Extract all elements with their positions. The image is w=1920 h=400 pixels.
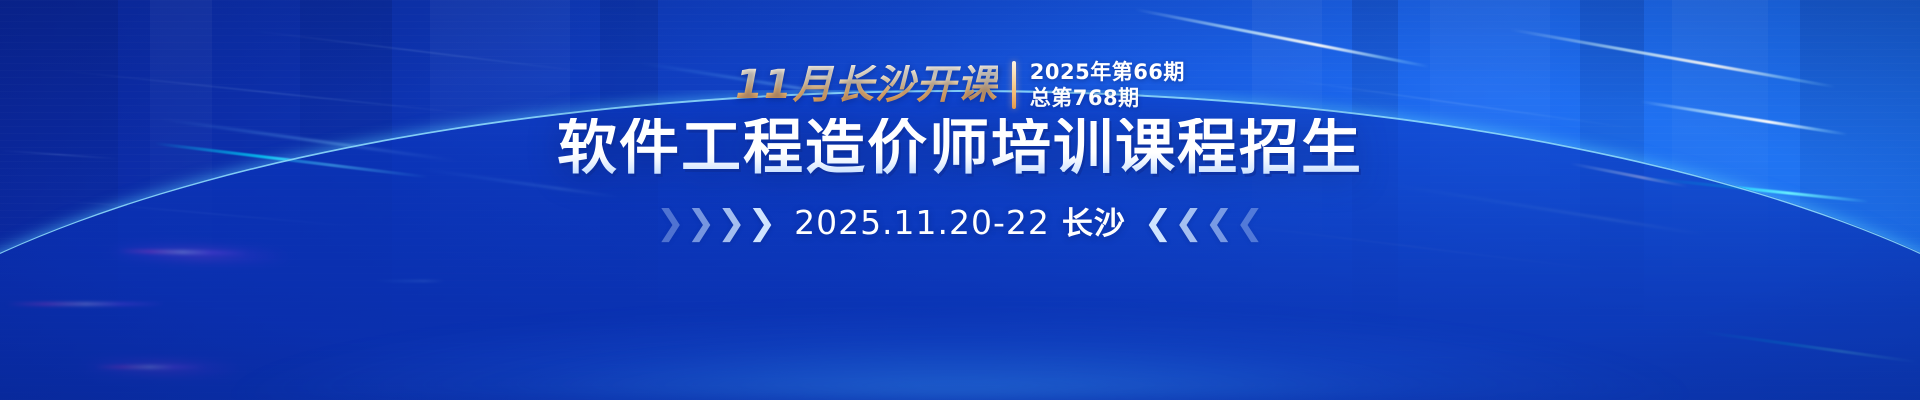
chevron-right-glyph: ❯ [656,206,685,240]
period-current: 2025年第66期 [1030,61,1185,83]
chevron-left-glyph: ❮ [1144,206,1173,240]
chevron-right-glyph: ❯ [687,206,716,240]
course-promo-banner: 11月长沙开课 2025年第66期 总第768期 软件工程造价师培训课程招生 ❯… [0,0,1920,400]
chevron-left-glyph: ❮ [1205,206,1234,240]
event-date-group: 2025.11.20-22长沙 [794,206,1126,240]
chevron-left-icon: ❮ ❮ ❮ ❮ [1144,206,1264,240]
vertical-bar-icon [1012,61,1016,109]
chevron-right-glyph: ❯ [717,206,746,240]
page-title: 软件工程造价师培训课程招生 [557,118,1363,178]
eyebrow-highlight: 11月长沙开课 [735,65,998,105]
period-total: 总第768期 [1030,87,1185,109]
chevron-right-icon: ❯ ❯ ❯ ❯ [656,206,776,240]
event-date: 2025.11.20-22 [794,203,1050,242]
event-city: 长沙 [1062,206,1126,242]
banner-content: 11月长沙开课 2025年第66期 总第768期 软件工程造价师培训课程招生 ❯… [0,0,1920,400]
chevron-right-glyph: ❯ [748,206,777,240]
eyebrow-row: 11月长沙开课 2025年第66期 总第768期 [735,58,1185,112]
chevron-left-glyph: ❮ [1235,206,1264,240]
dateline-row: ❯ ❯ ❯ ❯ 2025.11.20-22长沙 ❮ ❮ ❮ ❮ [656,206,1264,240]
period-group: 2025年第66期 总第768期 [1030,61,1185,108]
chevron-left-glyph: ❮ [1174,206,1203,240]
